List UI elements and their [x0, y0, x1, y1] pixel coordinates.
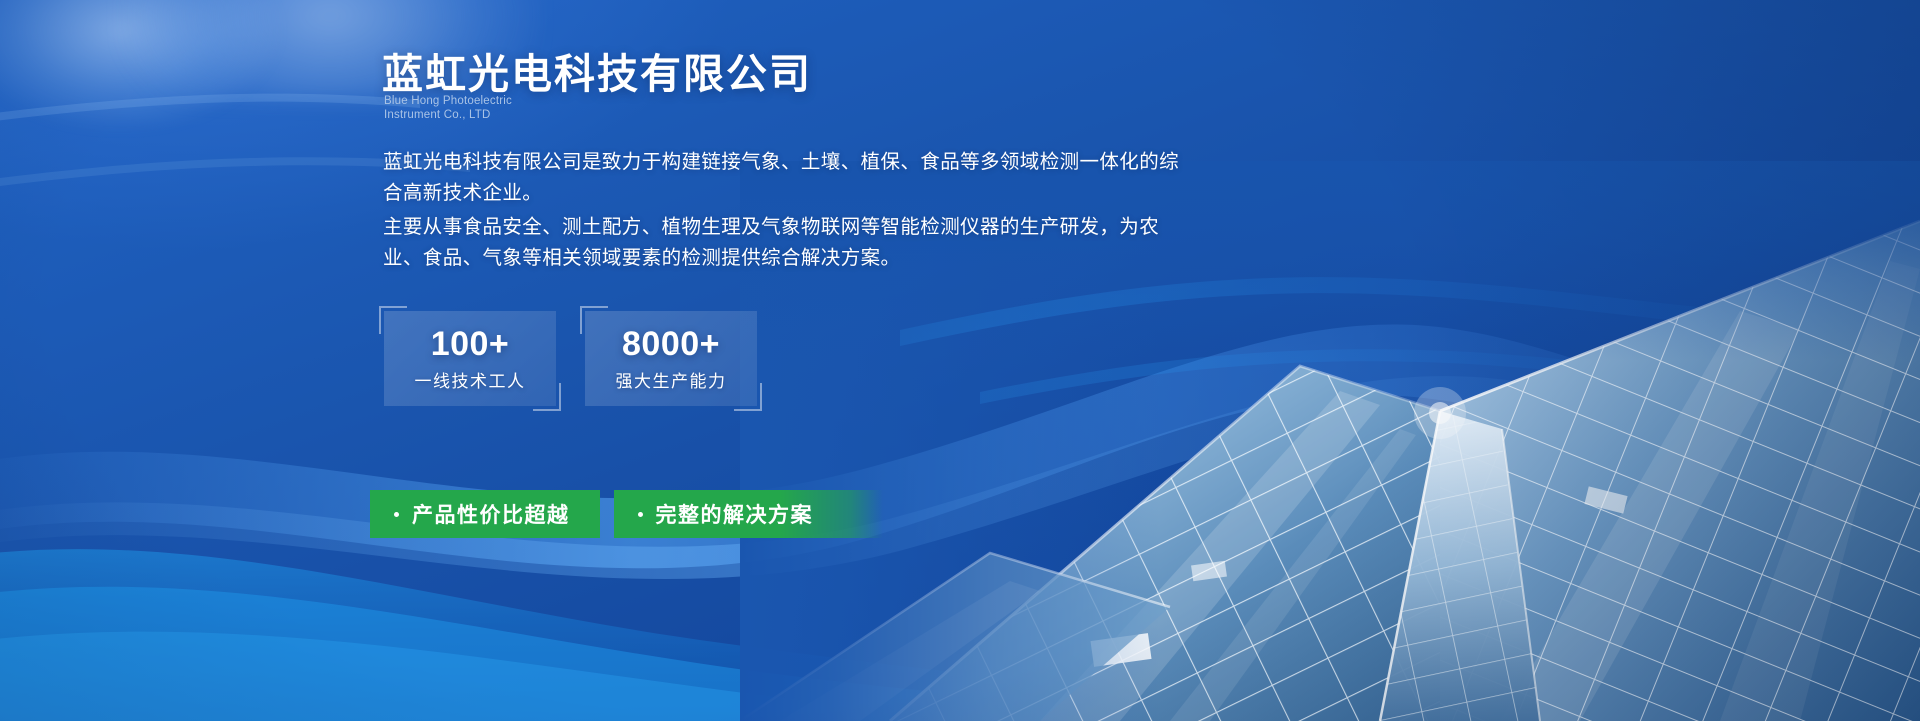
hero-content: 蓝虹光电科技有限公司 Blue Hong Photoelectric Instr… — [0, 0, 1920, 721]
subtitle-line-1: Blue Hong Photoelectric — [384, 94, 512, 108]
hero-banner: 蓝虹光电科技有限公司 Blue Hong Photoelectric Instr… — [0, 0, 1920, 721]
feature-item-label: 产品性价比超越 — [412, 499, 570, 529]
stat-label: 强大生产能力 — [616, 373, 727, 390]
feature-item-label: 完整的解决方案 — [656, 499, 814, 529]
subtitle-line-2: Instrument Co., LTD — [384, 108, 512, 122]
feature-item-solution[interactable]: 完整的解决方案 — [614, 490, 884, 538]
stat-value: 100+ — [431, 327, 510, 361]
description-paragraph-1: 蓝虹光电科技有限公司是致力于构建链接气象、土壤、植保、食品等多领域检测一体化的综… — [383, 147, 1183, 209]
stat-card-capacity: 8000+ 强大生产能力 — [585, 311, 757, 406]
bullet-dot-icon — [638, 512, 643, 517]
stat-label: 一线技术工人 — [415, 373, 526, 390]
description-paragraph-2: 主要从事食品安全、测土配方、植物生理及气象物联网等智能检测仪器的生产研发，为农业… — [383, 212, 1183, 274]
feature-banner: 产品性价比超越 完整的解决方案 — [370, 490, 883, 538]
statistics-group: 100+ 一线技术工人 8000+ 强大生产能力 — [384, 311, 757, 406]
banner-divider — [600, 490, 614, 538]
bullet-dot-icon — [394, 512, 399, 517]
company-subtitle-english: Blue Hong Photoelectric Instrument Co., … — [384, 94, 512, 122]
company-title: 蓝虹光电科技有限公司 — [382, 40, 812, 100]
feature-item-value[interactable]: 产品性价比超越 — [370, 490, 600, 538]
stat-value: 8000+ — [622, 327, 720, 361]
stat-card-workers: 100+ 一线技术工人 — [384, 311, 556, 406]
